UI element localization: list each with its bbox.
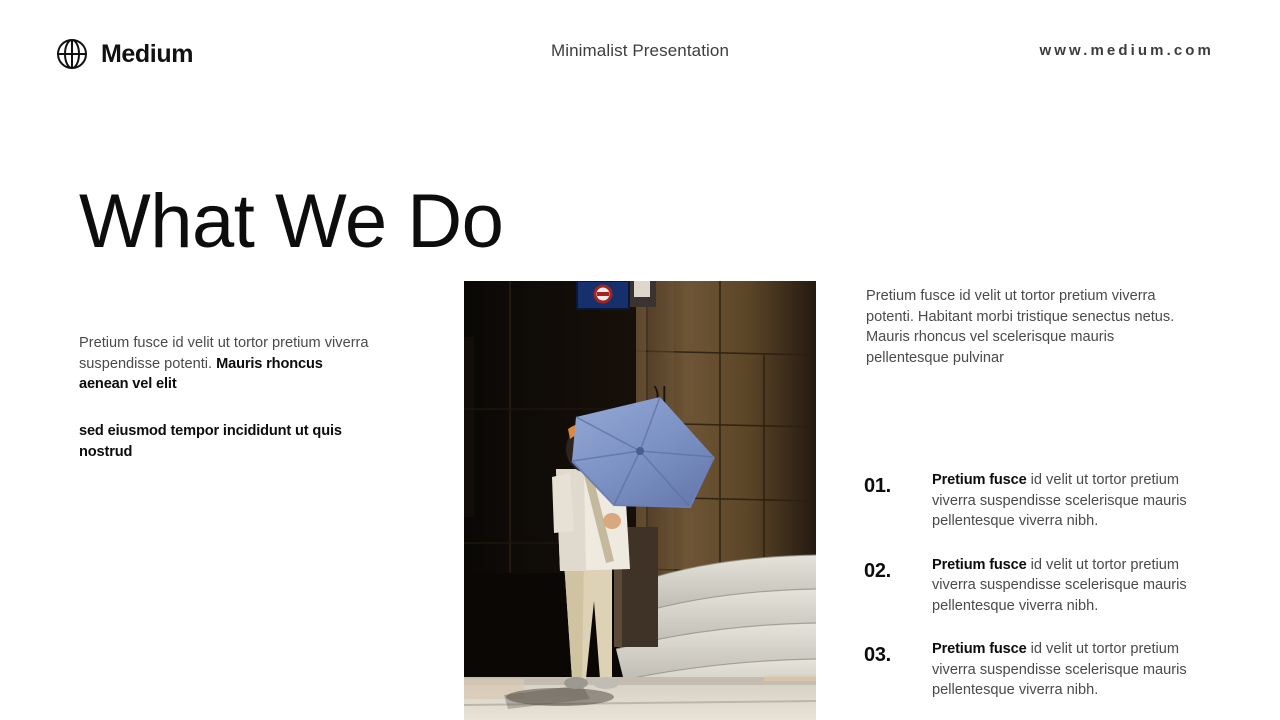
presentation-slide: Medium Minimalist Presentation www.mediu…: [0, 0, 1280, 720]
no-entry-sign: [577, 281, 656, 309]
left-text-block: Pretium fusce id velit ut tortor pretium…: [79, 333, 369, 395]
list-item-number: 02.: [864, 555, 932, 583]
left-paragraph: Pretium fusce id velit ut tortor pretium…: [79, 333, 369, 395]
list-item-number: 03.: [864, 639, 932, 667]
list-item-lead: Pretium fusce: [932, 641, 1027, 657]
list-item-text: Pretium fusce id velit ut tortor pretium…: [932, 639, 1204, 701]
right-paragraph: Pretium fusce id velit ut tortor pretium…: [866, 286, 1178, 368]
list-item[interactable]: 02. Pretium fusce id velit ut tortor pre…: [864, 555, 1204, 617]
left-note: sed eiusmod tempor incididunt ut quis no…: [79, 421, 369, 462]
numbered-list: 01. Pretium fusce id velit ut tortor pre…: [864, 470, 1204, 701]
list-item-lead: Pretium fusce: [932, 557, 1027, 573]
list-item[interactable]: 03. Pretium fusce id velit ut tortor pre…: [864, 639, 1204, 701]
page-title: What We Do: [79, 184, 503, 260]
list-item-number: 01.: [864, 470, 932, 498]
list-item-text: Pretium fusce id velit ut tortor pretium…: [932, 470, 1204, 532]
list-item-text: Pretium fusce id velit ut tortor pretium…: [932, 555, 1204, 617]
list-item-lead: Pretium fusce: [932, 472, 1027, 488]
header-website-url[interactable]: www.medium.com: [1039, 42, 1214, 59]
list-item[interactable]: 01. Pretium fusce id velit ut tortor pre…: [864, 470, 1204, 532]
slide-photo: )|: [464, 281, 816, 720]
